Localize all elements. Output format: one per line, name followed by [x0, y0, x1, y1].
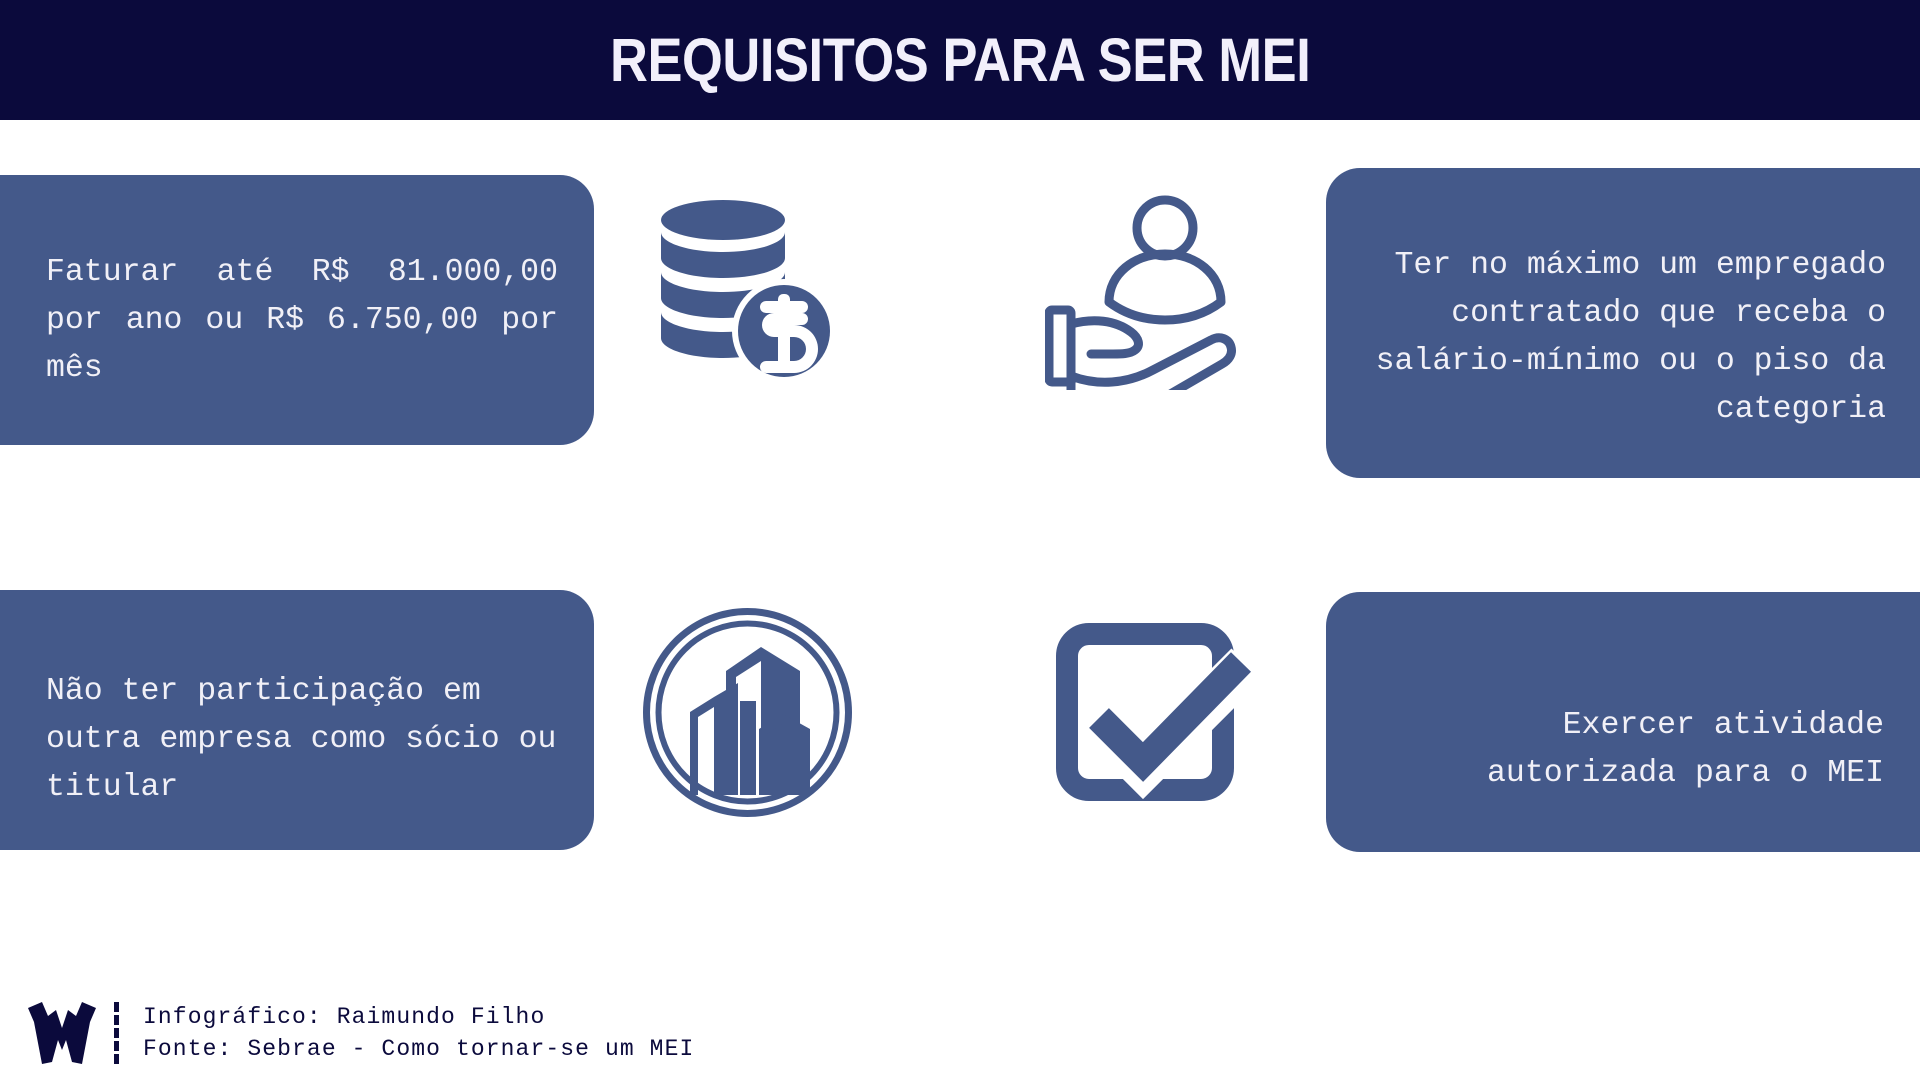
page-title: REQUISITOS PARA SER MEI [610, 25, 1310, 95]
header-bar: REQUISITOS PARA SER MEI [0, 0, 1920, 120]
hand-holding-person-icon [1045, 190, 1260, 390]
coins-dollar-icon [645, 196, 845, 396]
footer-divider [114, 1002, 119, 1064]
requirement-card-faturamento: Faturar até R$ 81.000,00 por ano ou R$ 6… [0, 175, 594, 445]
requirement-text-empregado: Ter no máximo um empregado contratado qu… [1376, 248, 1886, 427]
requirement-text-participacao: Não ter participação em outra empresa co… [46, 674, 556, 805]
footer-credits: Infográfico: Raimundo Filho Fonte: Sebra… [133, 1003, 694, 1063]
requirement-card-atividade: Exercer atividade autorizada para o MEI [1326, 592, 1920, 852]
footer-credit-source: Fonte: Sebrae - Como tornar-se um MEI [143, 1035, 694, 1063]
requirement-text-faturamento: Faturar até R$ 81.000,00 por ano ou R$ 6… [46, 255, 558, 386]
footer: Infográfico: Raimundo Filho Fonte: Sebra… [26, 1000, 694, 1066]
requirement-text-atividade: Exercer atividade autorizada para o MEI [1487, 708, 1884, 791]
checkbox-check-icon [1055, 612, 1255, 812]
requirement-card-participacao: Não ter participação em outra empresa co… [0, 590, 594, 850]
requirement-card-empregado: Ter no máximo um empregado contratado qu… [1326, 168, 1920, 478]
footer-credit-author: Infográfico: Raimundo Filho [143, 1003, 694, 1031]
m-logo [26, 1000, 98, 1066]
city-buildings-circle-icon [640, 605, 855, 820]
